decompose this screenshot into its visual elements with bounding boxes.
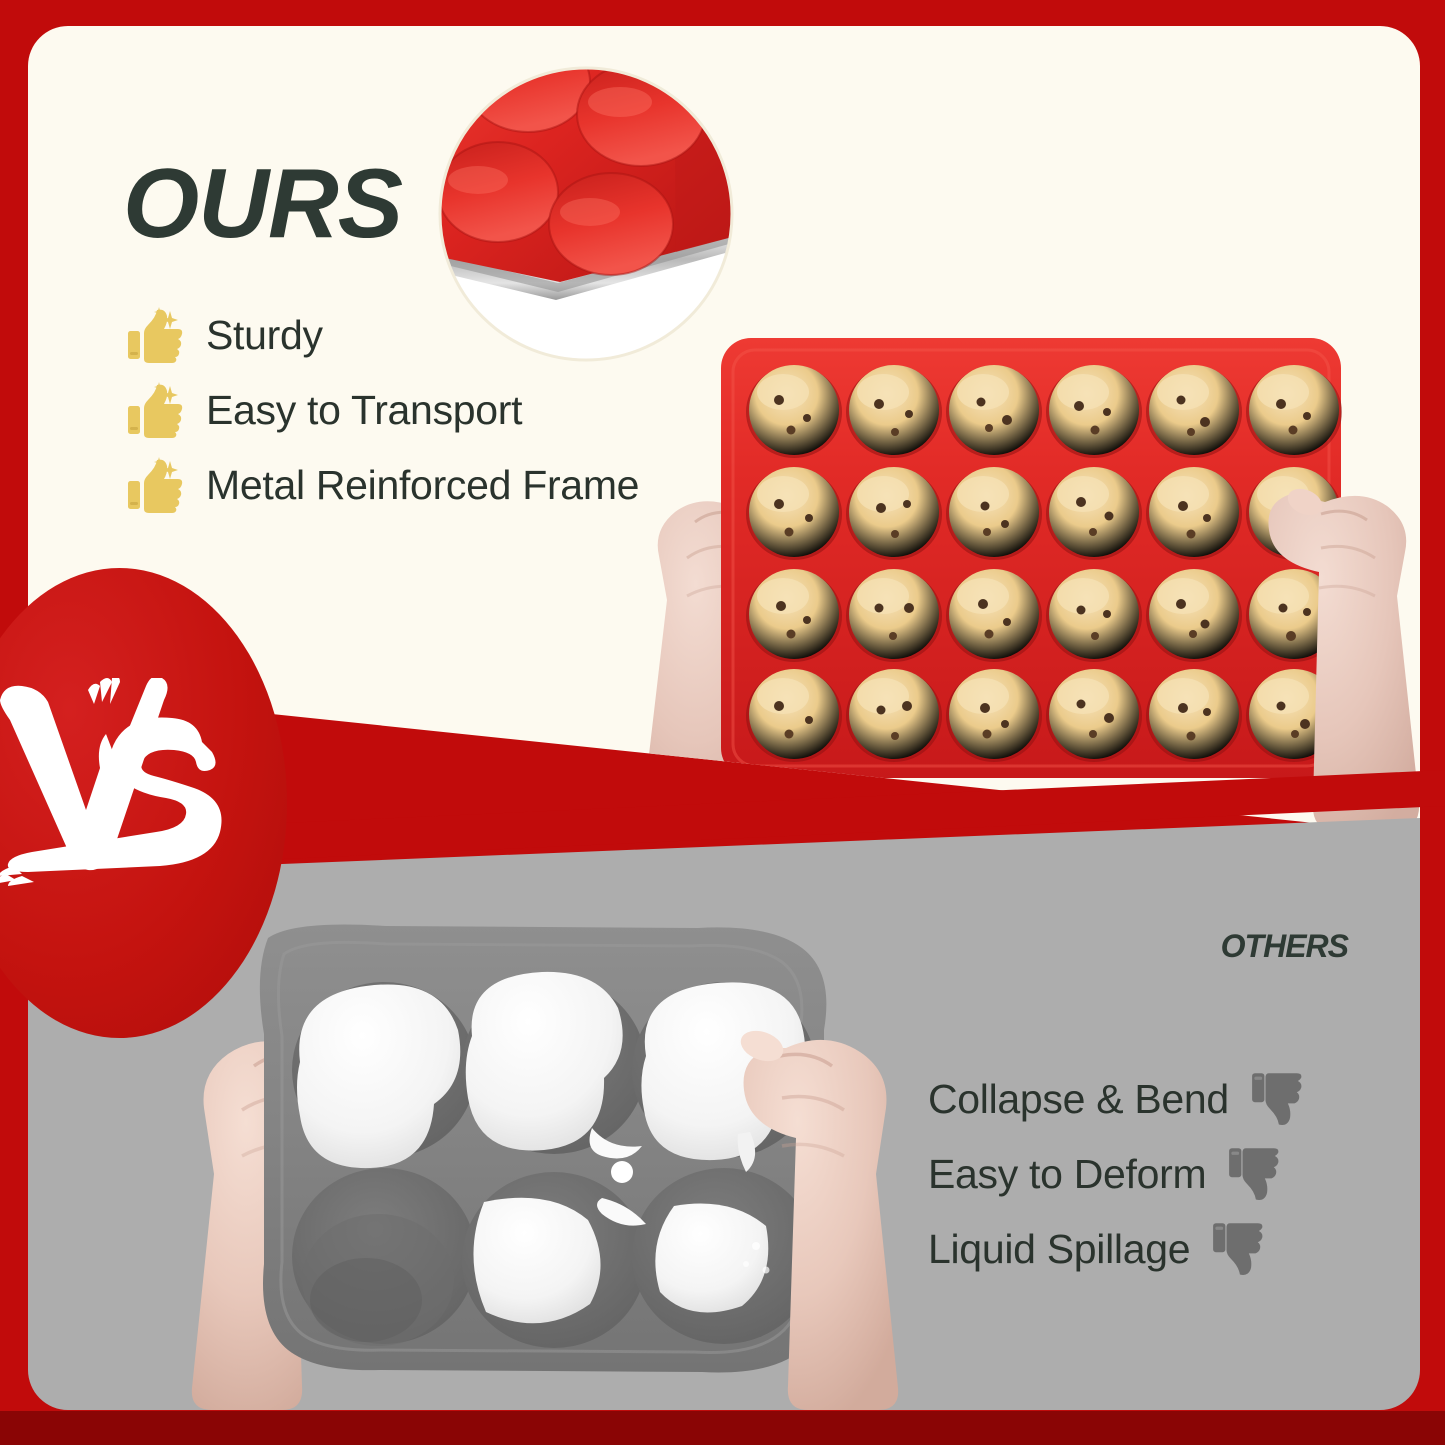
drawback-row-collapse-and-bend: Collapse & Bend [928,1062,1358,1137]
feature-label: Easy to Transport [206,387,522,434]
vs-brush-mark: VS [0,678,252,948]
vs-badge: VS VS [0,568,287,1038]
product-closeup-inset [436,64,736,364]
thumbs-up-sparkle-icon [126,307,184,365]
drawback-label: Liquid Spillage [928,1226,1190,1273]
ours-product-photo [583,296,1420,834]
others-feature-list: Collapse & Bend Easy to Deform [928,1062,1358,1287]
thumbs-up-sparkle-icon [126,457,184,515]
others-heading: OTHERS [1221,930,1348,962]
drawback-label: Collapse & Bend [928,1076,1229,1123]
drawback-label: Easy to Deform [928,1151,1206,1198]
feature-label: Sturdy [206,312,323,359]
drawback-row-easy-to-deform: Easy to Deform [928,1137,1358,1212]
thumbs-down-icon [1251,1071,1309,1129]
thumbs-down-icon [1228,1146,1286,1204]
thumbs-up-sparkle-icon [126,382,184,440]
thumbs-down-icon [1212,1221,1270,1279]
feature-label: Metal Reinforced Frame [206,462,639,509]
ours-heading: OURS [123,154,402,252]
comparison-infographic: OURS Sturdy [0,0,1445,1445]
drawback-row-liquid-spillage: Liquid Spillage [928,1212,1358,1287]
